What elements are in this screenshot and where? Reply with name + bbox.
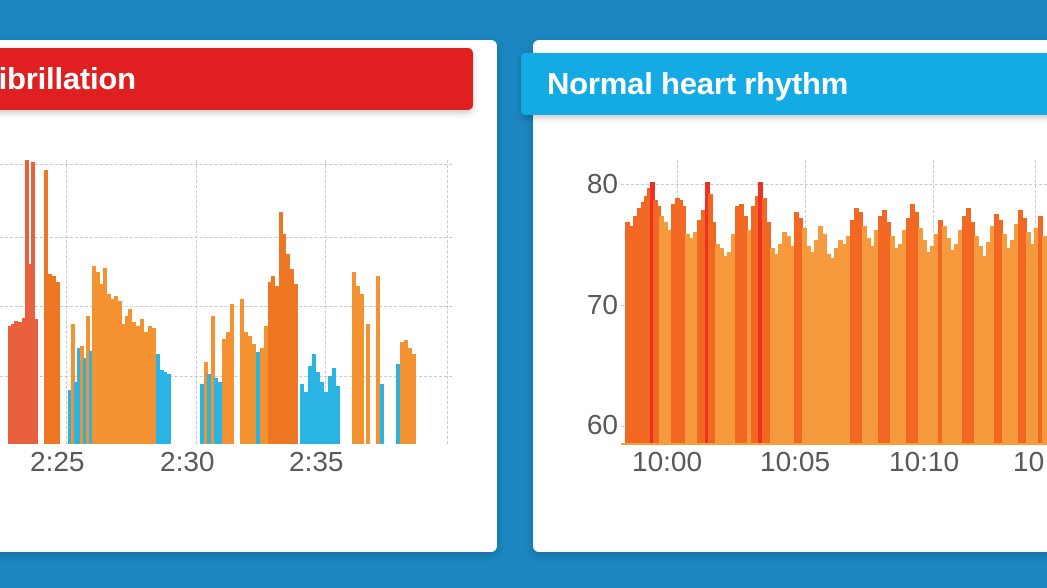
bar (56, 282, 60, 444)
header-atrial-fibrillation: al Fibrillation (0, 48, 473, 110)
panel-title-normal-heart-rhythm: Normal heart rhythm (547, 66, 848, 102)
xtick-af-1: 2:30 (160, 448, 215, 476)
bar (336, 386, 340, 444)
xtick-nh-3: 10 (1013, 448, 1044, 476)
xtick-nh-0: 10:00 (632, 448, 702, 476)
bar (366, 324, 370, 444)
bar (412, 354, 416, 444)
bar-series-nh (621, 160, 1047, 444)
bar-series-af (0, 160, 452, 444)
chart-atrial-fibrillation (0, 160, 452, 444)
xtick-nh-2: 10:10 (889, 448, 959, 476)
bar (34, 319, 38, 444)
bar (380, 384, 384, 444)
ytick-nh-70: 70 (560, 291, 618, 319)
ytick-nh-60: 60 (560, 411, 618, 439)
xtick-af-0: 2:25 (30, 448, 85, 476)
xtick-af-2: 2:35 (289, 448, 344, 476)
bar (167, 374, 171, 444)
bar (360, 294, 364, 444)
ytick-nh-80: 80 (560, 170, 618, 198)
xtick-nh-1: 10:05 (760, 448, 830, 476)
chart-normal-heart-rhythm (621, 160, 1047, 444)
bar (1042, 236, 1047, 444)
header-normal-heart-rhythm: Normal heart rhythm (521, 53, 1047, 115)
screenshot-root: al Fibrillation 2:25 2:30 2:35 Normal he… (0, 0, 1047, 588)
bar (230, 304, 234, 444)
bar (294, 284, 298, 444)
chart-baseline-nh (621, 443, 1047, 445)
panel-title-atrial-fibrillation: al Fibrillation (0, 61, 136, 97)
